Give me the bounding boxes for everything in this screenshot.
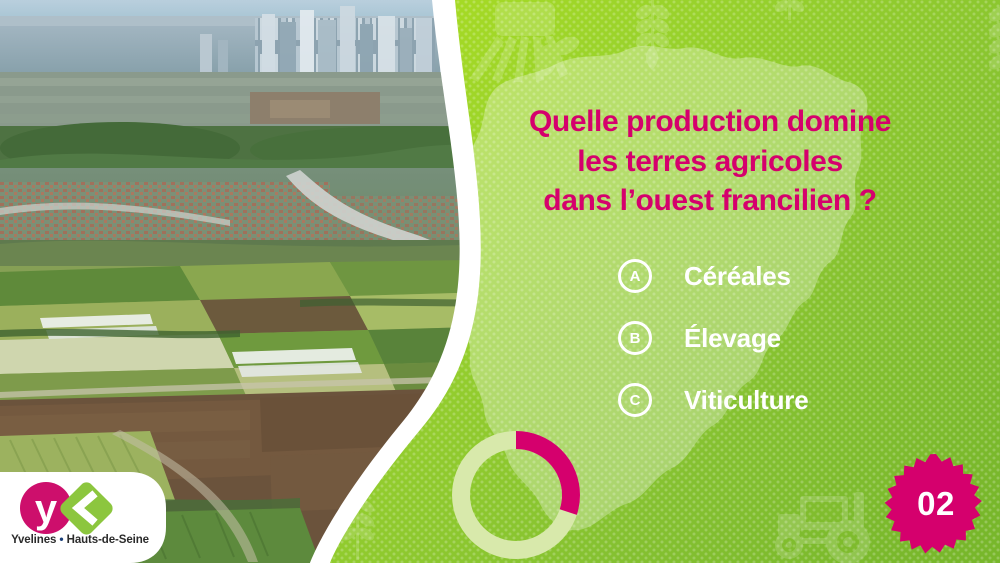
answer-option-b[interactable]: B Élevage xyxy=(618,310,948,366)
answer-options: A Céréales B Élevage C Viticulture xyxy=(618,248,948,434)
progress-ring xyxy=(446,425,586,563)
answer-label-b: Élevage xyxy=(684,323,781,354)
question-line-2: les terres agricoles xyxy=(470,142,950,182)
answer-option-a[interactable]: A Céréales xyxy=(618,248,948,304)
slide-number-text: 02 xyxy=(884,452,988,556)
logo-letter-y: y xyxy=(35,487,58,531)
quiz-slide: Quelle production domine les terres agri… xyxy=(0,0,1000,563)
question-title: Quelle production domine les terres agri… xyxy=(470,102,950,221)
answer-label-c: Viticulture xyxy=(684,385,808,416)
slide-number-badge: 02 xyxy=(884,452,988,556)
question-line-1: Quelle production domine xyxy=(470,102,950,142)
logo-name-primary: Yvelines xyxy=(11,534,56,546)
question-line-3: dans l’ouest francilien ? xyxy=(470,181,950,221)
logo-name-secondary: Hauts-de-Seine xyxy=(67,534,149,546)
progress-ring-svg xyxy=(446,425,586,563)
logo-separator-dot: • xyxy=(59,532,63,546)
logo-wordmark: Yvelines • Hauts-de-Seine xyxy=(0,532,160,546)
answer-badge-b: B xyxy=(618,321,652,355)
logo-yvelines-hauts-de-seine[interactable]: y Yvelines • Hauts-de-Seine xyxy=(0,472,172,563)
answer-badge-c: C xyxy=(618,383,652,417)
answer-badge-a: A xyxy=(618,259,652,293)
logo-graphic: y xyxy=(0,472,172,563)
answer-option-c[interactable]: C Viticulture xyxy=(618,372,948,428)
answer-label-a: Céréales xyxy=(684,261,791,292)
